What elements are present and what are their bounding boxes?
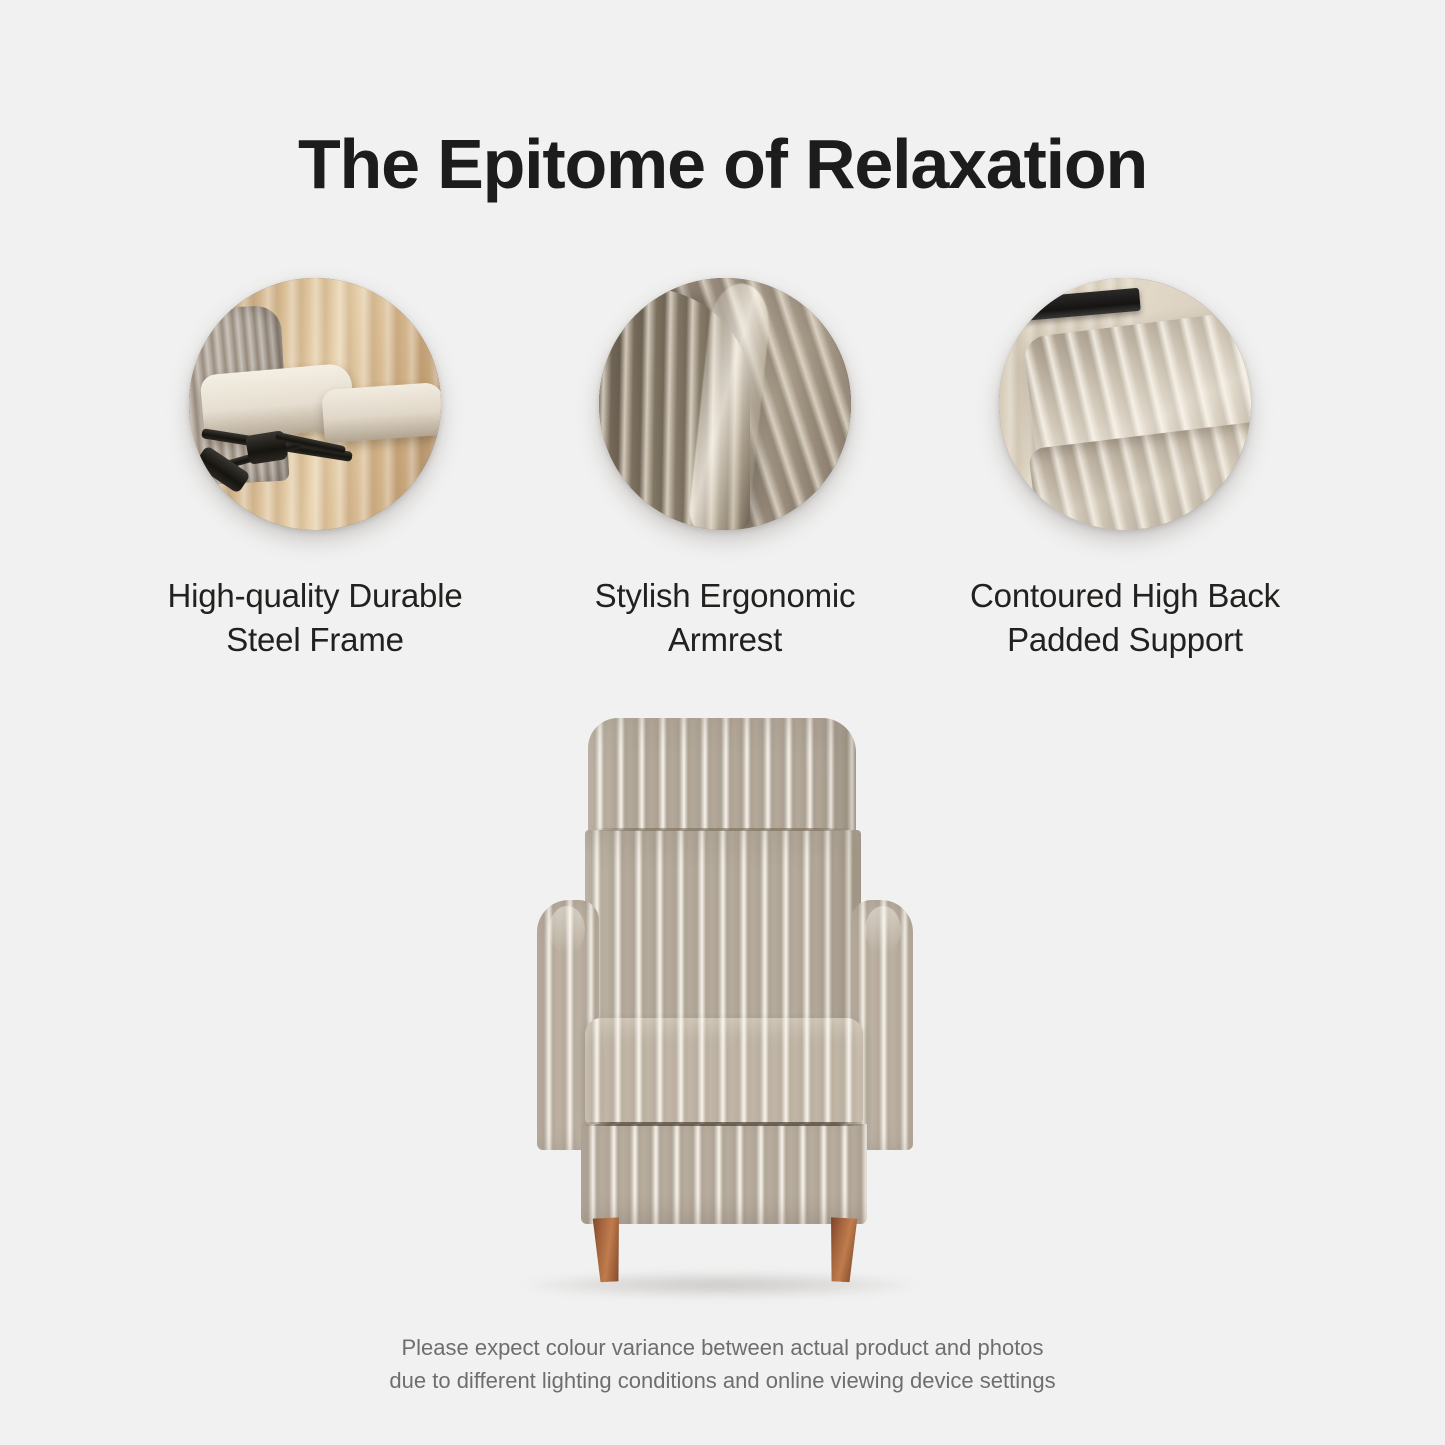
feature-item-steel-frame: High-quality Durable Steel Frame	[150, 278, 480, 661]
chair-base-front	[581, 1124, 867, 1224]
steel-frame-icon	[189, 278, 441, 530]
feature-label-line: Padded Support	[1007, 621, 1243, 658]
chair-backrest	[585, 830, 861, 1050]
feature-item-high-back: Contoured High Back Padded Support	[960, 278, 1290, 661]
feature-row: High-quality Durable Steel Frame Stylish…	[0, 278, 1445, 698]
armrest-photo-circle	[599, 278, 851, 530]
steel-mechanism-assembly	[194, 419, 370, 495]
feature-label-line: Steel Frame	[226, 621, 404, 658]
feature-label-line: Contoured High Back	[970, 577, 1280, 614]
chair-seat-cushion	[585, 1018, 863, 1126]
feature-label-line: Armrest	[668, 621, 782, 658]
seat-base-seam	[583, 1122, 865, 1126]
feature-label-line: Stylish Ergonomic	[595, 577, 856, 614]
steel-bar	[194, 446, 251, 494]
feature-label-high-back: Contoured High Back Padded Support	[960, 574, 1290, 661]
high-back-icon	[999, 278, 1251, 530]
disclaimer-text: Please expect colour variance between ac…	[0, 1332, 1445, 1397]
page-title: The Epitome of Relaxation	[0, 128, 1445, 202]
feature-item-armrest: Stylish Ergonomic Armrest	[560, 278, 890, 661]
infographic-page: The Epitome of Relaxation	[0, 0, 1445, 1445]
feature-label-armrest: Stylish Ergonomic Armrest	[560, 574, 890, 661]
chair-leg-left	[591, 1217, 622, 1282]
hero-product-image	[0, 700, 1445, 1320]
disclaimer-line-2: due to different lighting conditions and…	[0, 1365, 1445, 1398]
steel-frame-photo-circle	[189, 278, 441, 530]
recliner-chair	[493, 700, 953, 1300]
feature-label-steel-frame: High-quality Durable Steel Frame	[150, 574, 480, 661]
high-back-photo-circle	[999, 278, 1251, 530]
headrest-seam	[592, 828, 852, 831]
chair-leg-right	[828, 1217, 859, 1282]
disclaimer-line-1: Please expect colour variance between ac…	[0, 1332, 1445, 1365]
armrest-icon	[599, 278, 851, 530]
feature-label-line: High-quality Durable	[168, 577, 463, 614]
